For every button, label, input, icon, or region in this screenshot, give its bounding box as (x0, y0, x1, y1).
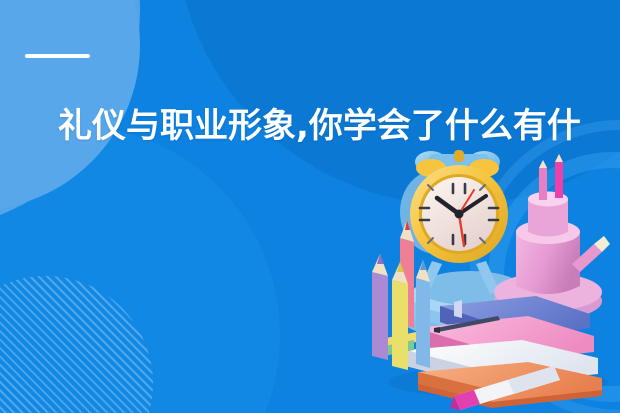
study-desk-illustration (358, 146, 620, 413)
promo-banner: 礼仪与职业形象,你学会了什么有什 (0, 0, 620, 413)
accent-rule (25, 54, 90, 58)
banner-headline: 礼仪与职业形象,你学会了什么有什 (58, 106, 603, 146)
pencil-holder-icon (494, 154, 610, 320)
